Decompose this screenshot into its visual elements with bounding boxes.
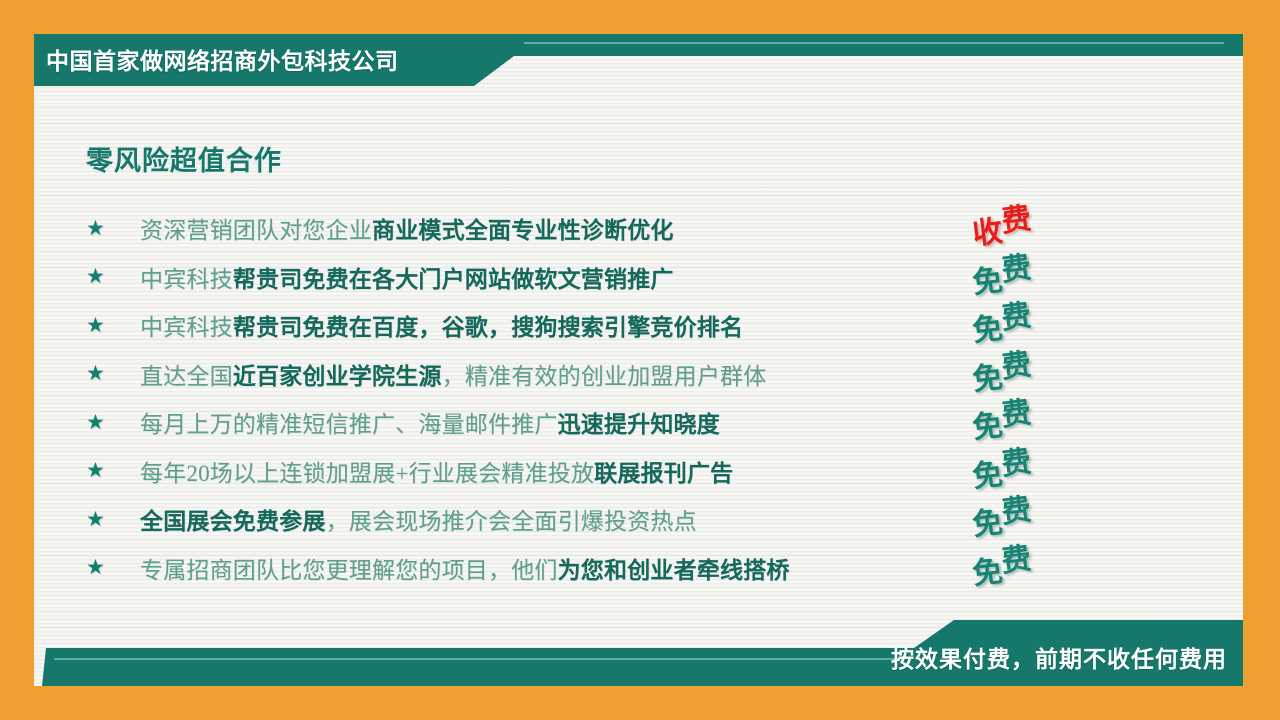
star-bullet-icon: ★ — [86, 218, 140, 239]
benefit-list: ★资深营销团队对您企业商业模式全面专业性诊断优化★中宾科技帮贵司免费在各大门户网… — [86, 204, 1096, 592]
benefit-row: ★资深营销团队对您企业商业模式全面专业性诊断优化 — [86, 204, 1096, 253]
price-badge-char-2: 费 — [1000, 301, 1033, 334]
benefit-text-emphasis: 帮贵司免费在百度，谷歌，搜狗搜索引擎竞价排名 — [233, 315, 743, 340]
price-badge: 免费 — [948, 451, 1033, 491]
footer-tagline: 按效果付费，前期不收任何费用 — [891, 636, 1227, 678]
benefit-text-emphasis: 近百家创业学院生源 — [233, 364, 442, 389]
slide-root: 中国首家做网络招商外包科技公司 零风险超值合作 ★资深营销团队对您企业商业模式全… — [0, 0, 1280, 720]
price-badge: 免费 — [948, 305, 1033, 345]
star-bullet-icon: ★ — [86, 266, 140, 287]
benefit-text-emphasis: 为您和创业者牵线搭桥 — [558, 558, 790, 583]
price-badge-char-2: 费 — [1000, 204, 1033, 237]
price-badge-char-2: 费 — [1000, 350, 1033, 383]
star-bullet-icon: ★ — [86, 363, 140, 384]
price-badge-char-1: 免 — [971, 411, 1004, 444]
benefit-row: ★每年20场以上连锁加盟展+行业展会精准投放联展报刊广告 — [86, 447, 1096, 496]
price-row: 免费 — [950, 253, 1100, 302]
price-badge-char-1: 收 — [971, 217, 1004, 250]
benefit-text-plain-before: 资深营销团队对您企业 — [140, 218, 372, 243]
price-column: 收费免费免费免费免费免费免费免费 — [950, 204, 1100, 592]
price-badge-char-1: 免 — [971, 314, 1004, 347]
benefit-text-plain-before: 直达全国 — [140, 364, 233, 389]
price-badge: 免费 — [948, 499, 1033, 539]
price-badge-char-1: 免 — [971, 265, 1004, 298]
price-badge-char-1: 免 — [971, 459, 1004, 492]
price-badge-char-2: 费 — [1000, 253, 1033, 286]
benefit-row: ★每月上万的精准短信推广、海量邮件推广迅速提升知晓度 — [86, 398, 1096, 447]
price-badge-char-1: 免 — [971, 508, 1004, 541]
benefit-text-plain-before: 中宾科技 — [140, 267, 233, 292]
benefit-text-plain-before: 中宾科技 — [140, 315, 233, 340]
benefit-row: ★全国展会免费参展，展会现场推介会全面引爆投资热点 — [86, 495, 1096, 544]
price-badge: 免费 — [948, 257, 1033, 297]
price-row: 免费 — [950, 398, 1100, 447]
star-bullet-icon: ★ — [86, 412, 140, 433]
price-badge: 收费 — [948, 208, 1033, 248]
price-badge: 免费 — [948, 354, 1033, 394]
slide-canvas: 中国首家做网络招商外包科技公司 零风险超值合作 ★资深营销团队对您企业商业模式全… — [34, 34, 1243, 686]
benefit-text-emphasis: 迅速提升知晓度 — [558, 412, 720, 437]
benefit-text-plain-after: ，展会现场推介会全面引爆投资热点 — [326, 509, 697, 534]
price-row: 免费 — [950, 544, 1100, 593]
price-badge-char-2: 费 — [1000, 544, 1033, 577]
benefit-text-plain-after: ，精准有效的创业加盟用户群体 — [442, 364, 767, 389]
benefit-row: ★中宾科技帮贵司免费在各大门户网站做软文营销推广 — [86, 253, 1096, 302]
star-bullet-icon: ★ — [86, 509, 140, 530]
benefit-text-emphasis: 商业模式全面专业性诊断优化 — [372, 218, 674, 243]
benefit-text-emphasis: 全国展会免费参展 — [140, 509, 326, 534]
price-badge-char-2: 费 — [1000, 495, 1033, 528]
benefit-text-plain-before: 每年20场以上连锁加盟展+行业展会精准投放 — [140, 461, 594, 486]
price-row: 免费 — [950, 301, 1100, 350]
price-badge-char-2: 费 — [1000, 398, 1033, 431]
benefit-row: ★中宾科技帮贵司免费在百度，谷歌，搜狗搜索引擎竞价排名 — [86, 301, 1096, 350]
star-bullet-icon: ★ — [86, 557, 140, 578]
price-badge-char-2: 费 — [1000, 447, 1033, 480]
benefit-text-emphasis: 帮贵司免费在各大门户网站做软文营销推广 — [233, 267, 674, 292]
benefit-text-plain-before: 每月上万的精准短信推广、海量邮件推广 — [140, 412, 558, 437]
header-title: 中国首家做网络招商外包科技公司 — [46, 38, 399, 80]
benefit-row: ★专属招商团队比您更理解您的项目，他们为您和创业者牵线搭桥 — [86, 544, 1096, 593]
benefit-text-plain-before: 专属招商团队比您更理解您的项目，他们 — [140, 558, 558, 583]
price-badge-char-1: 免 — [971, 556, 1004, 589]
page-title: 零风险超值合作 — [86, 139, 282, 178]
price-row: 免费 — [950, 447, 1100, 496]
price-badge-char-1: 免 — [971, 362, 1004, 395]
price-row: 收费 — [950, 204, 1100, 253]
benefit-text-emphasis: 联展报刊广告 — [594, 461, 733, 486]
price-badge: 免费 — [948, 402, 1033, 442]
price-row: 免费 — [950, 350, 1100, 399]
star-bullet-icon: ★ — [86, 315, 140, 336]
price-badge: 免费 — [948, 548, 1033, 588]
star-bullet-icon: ★ — [86, 460, 140, 481]
benefit-row: ★直达全国近百家创业学院生源，精准有效的创业加盟用户群体 — [86, 350, 1096, 399]
price-row: 免费 — [950, 495, 1100, 544]
